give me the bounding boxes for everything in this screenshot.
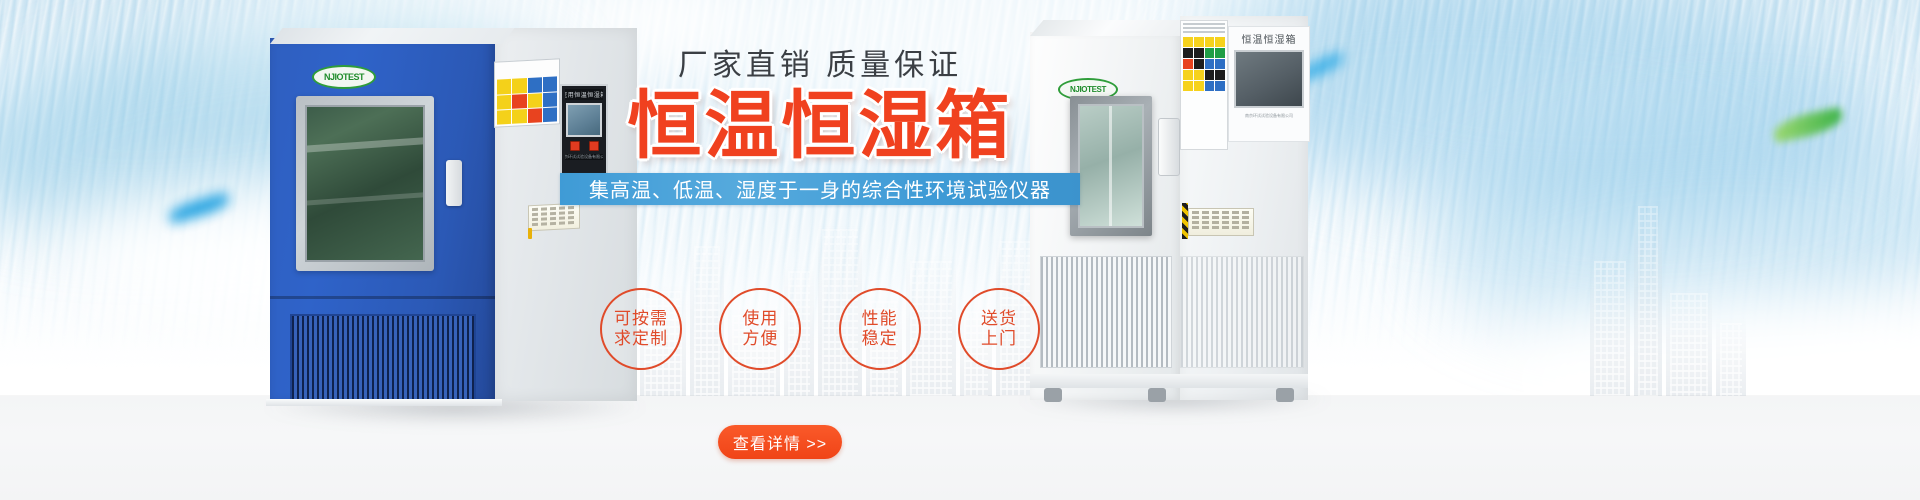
feature-badge-1[interactable]: 使用 方便: [719, 288, 801, 370]
door-handle: [446, 160, 462, 206]
vent-slots: [1183, 23, 1225, 35]
caster-wheel: [1276, 388, 1294, 402]
chamber-top-surface: [1030, 20, 1201, 36]
chamber-base-plinth: [266, 399, 502, 406]
caster-wheel: [1148, 388, 1166, 402]
promo-banner: NJIOTEST 医用恒温恒湿箱 南京环试试验设备有限公司: [0, 0, 1920, 500]
hazard-icon-grid: [1183, 37, 1225, 91]
kicker-text: 厂家直销 质量保证: [560, 40, 1080, 84]
feature-badge-row: 可按需 求定制 使用 方便 性能 稳定 送货 上门: [600, 288, 1040, 370]
feature-badge-0[interactable]: 可按需 求定制: [600, 288, 682, 370]
feature-badge-line2: 求定制: [614, 329, 668, 349]
door-view-window: [305, 105, 425, 262]
control-panel-title: 恒温恒湿箱: [1233, 31, 1305, 46]
control-panel-subtitle: 南京环试试验设备有限公司: [1233, 113, 1305, 119]
condenser-grille: [1040, 256, 1172, 368]
control-panel[interactable]: 恒温恒湿箱 南京环试试验设备有限公司: [1228, 26, 1310, 142]
feature-badge-line2: 方便: [742, 329, 778, 349]
side-indicator-light: [528, 228, 532, 239]
body-seam: [270, 296, 495, 299]
feature-badge-line2: 稳定: [862, 329, 898, 349]
headline-copy-block: 厂家直销 质量保证 恒温恒湿箱 集高温、低温、湿度于一身的综合性环境试验仪器: [560, 40, 1080, 205]
chamber-top-surface: [270, 28, 515, 44]
feature-badge-line1: 使用: [742, 309, 778, 329]
chamber-door: [1070, 96, 1152, 236]
safety-warning-sticker: [1180, 20, 1228, 150]
subtitle-bar: 集高温、低温、湿度于一身的综合性环境试验仪器: [560, 173, 1080, 205]
spec-label-sticker: [1188, 208, 1254, 236]
view-details-button[interactable]: 查看详情 >>: [718, 425, 842, 459]
safety-warning-sticker: [494, 58, 560, 127]
control-panel-screen[interactable]: [1234, 50, 1304, 108]
chamber-base-plinth: [1030, 374, 1308, 388]
feature-badge-3[interactable]: 送货 上门: [958, 288, 1040, 370]
feature-badge-line1: 送货: [981, 309, 1017, 329]
brand-logo-badge: NJIOTEST: [312, 65, 376, 89]
feature-badge-line1: 性能: [862, 309, 898, 329]
caster-wheel: [1044, 388, 1062, 402]
door-view-window: [1078, 104, 1144, 228]
door-handle: [1158, 118, 1180, 176]
condenser-grille-side: [1180, 256, 1304, 368]
feature-badge-2[interactable]: 性能 稳定: [839, 288, 921, 370]
feature-badge-line2: 上门: [981, 329, 1017, 349]
feature-badge-line1: 可按需: [614, 309, 668, 329]
condenser-grille: [290, 314, 476, 402]
chamber-door: [296, 96, 434, 271]
page-title: 恒温恒湿箱: [560, 88, 1080, 165]
spec-label-sticker: [528, 203, 580, 232]
